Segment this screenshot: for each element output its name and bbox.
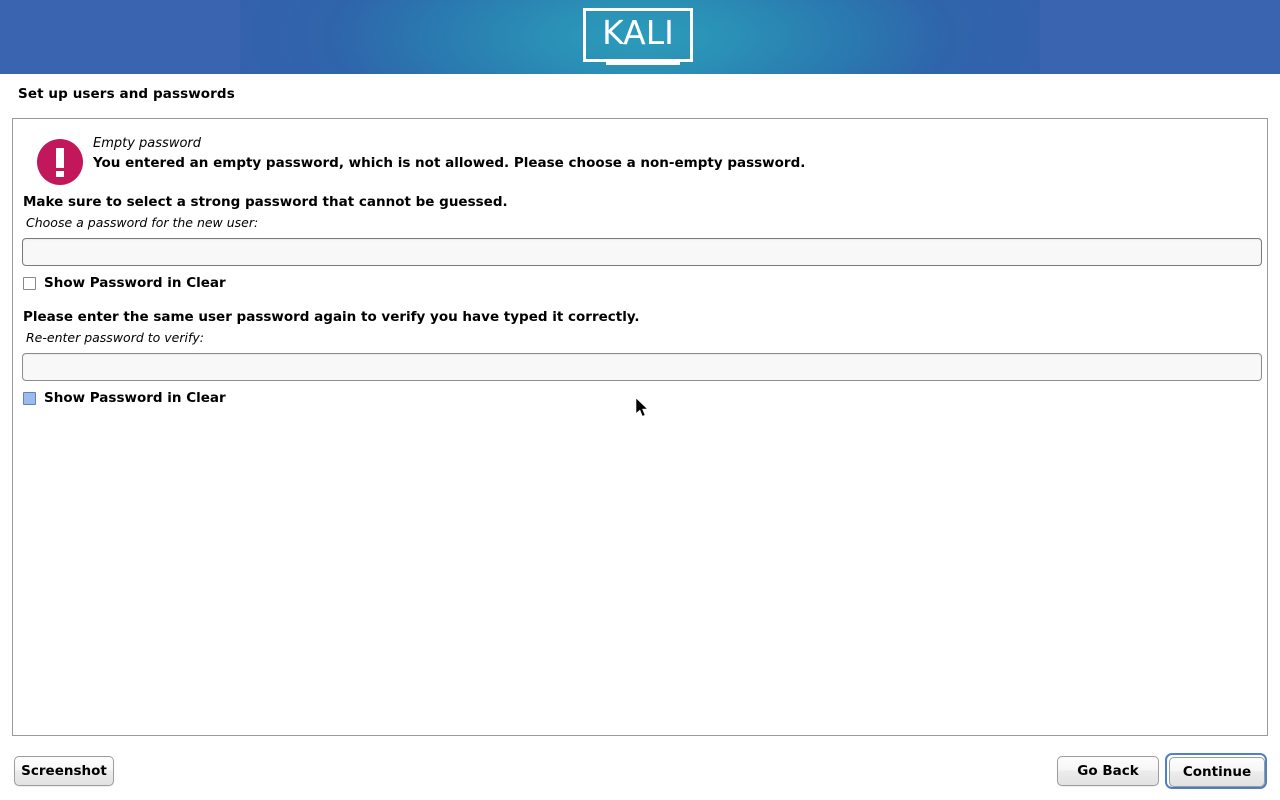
show-password-label-2: Show Password in Clear bbox=[44, 390, 226, 406]
continue-button[interactable]: Continue bbox=[1169, 757, 1265, 787]
password-section-heading: Make sure to select a strong password th… bbox=[23, 194, 508, 210]
show-password-checkbox-1[interactable] bbox=[23, 277, 36, 290]
kali-banner: KALI bbox=[0, 0, 1280, 74]
screenshot-button[interactable]: Screenshot bbox=[14, 756, 114, 786]
password-field-label: Choose a password for the new user: bbox=[26, 215, 258, 230]
logo-underline bbox=[606, 60, 680, 65]
verify-section-heading: Please enter the same user password agai… bbox=[23, 309, 640, 325]
page-title: Set up users and passwords bbox=[18, 86, 235, 102]
go-back-button[interactable]: Go Back bbox=[1057, 756, 1159, 786]
verify-password-input[interactable] bbox=[22, 353, 1262, 381]
main-panel: Empty password You entered an empty pass… bbox=[12, 118, 1268, 736]
password-input[interactable] bbox=[22, 238, 1262, 266]
continue-button-focus-ring[interactable]: Continue bbox=[1165, 753, 1267, 789]
logo-text: KALI bbox=[583, 8, 693, 62]
password-form: Make sure to select a strong password th… bbox=[13, 119, 1267, 735]
show-password-checkbox-2[interactable] bbox=[23, 392, 36, 405]
verify-field-label: Re-enter password to verify: bbox=[26, 330, 204, 345]
installer-window: KALI Set up users and passwords Empty pa… bbox=[0, 0, 1280, 800]
kali-logo: KALI bbox=[583, 8, 697, 66]
show-password-label-1: Show Password in Clear bbox=[44, 275, 226, 291]
